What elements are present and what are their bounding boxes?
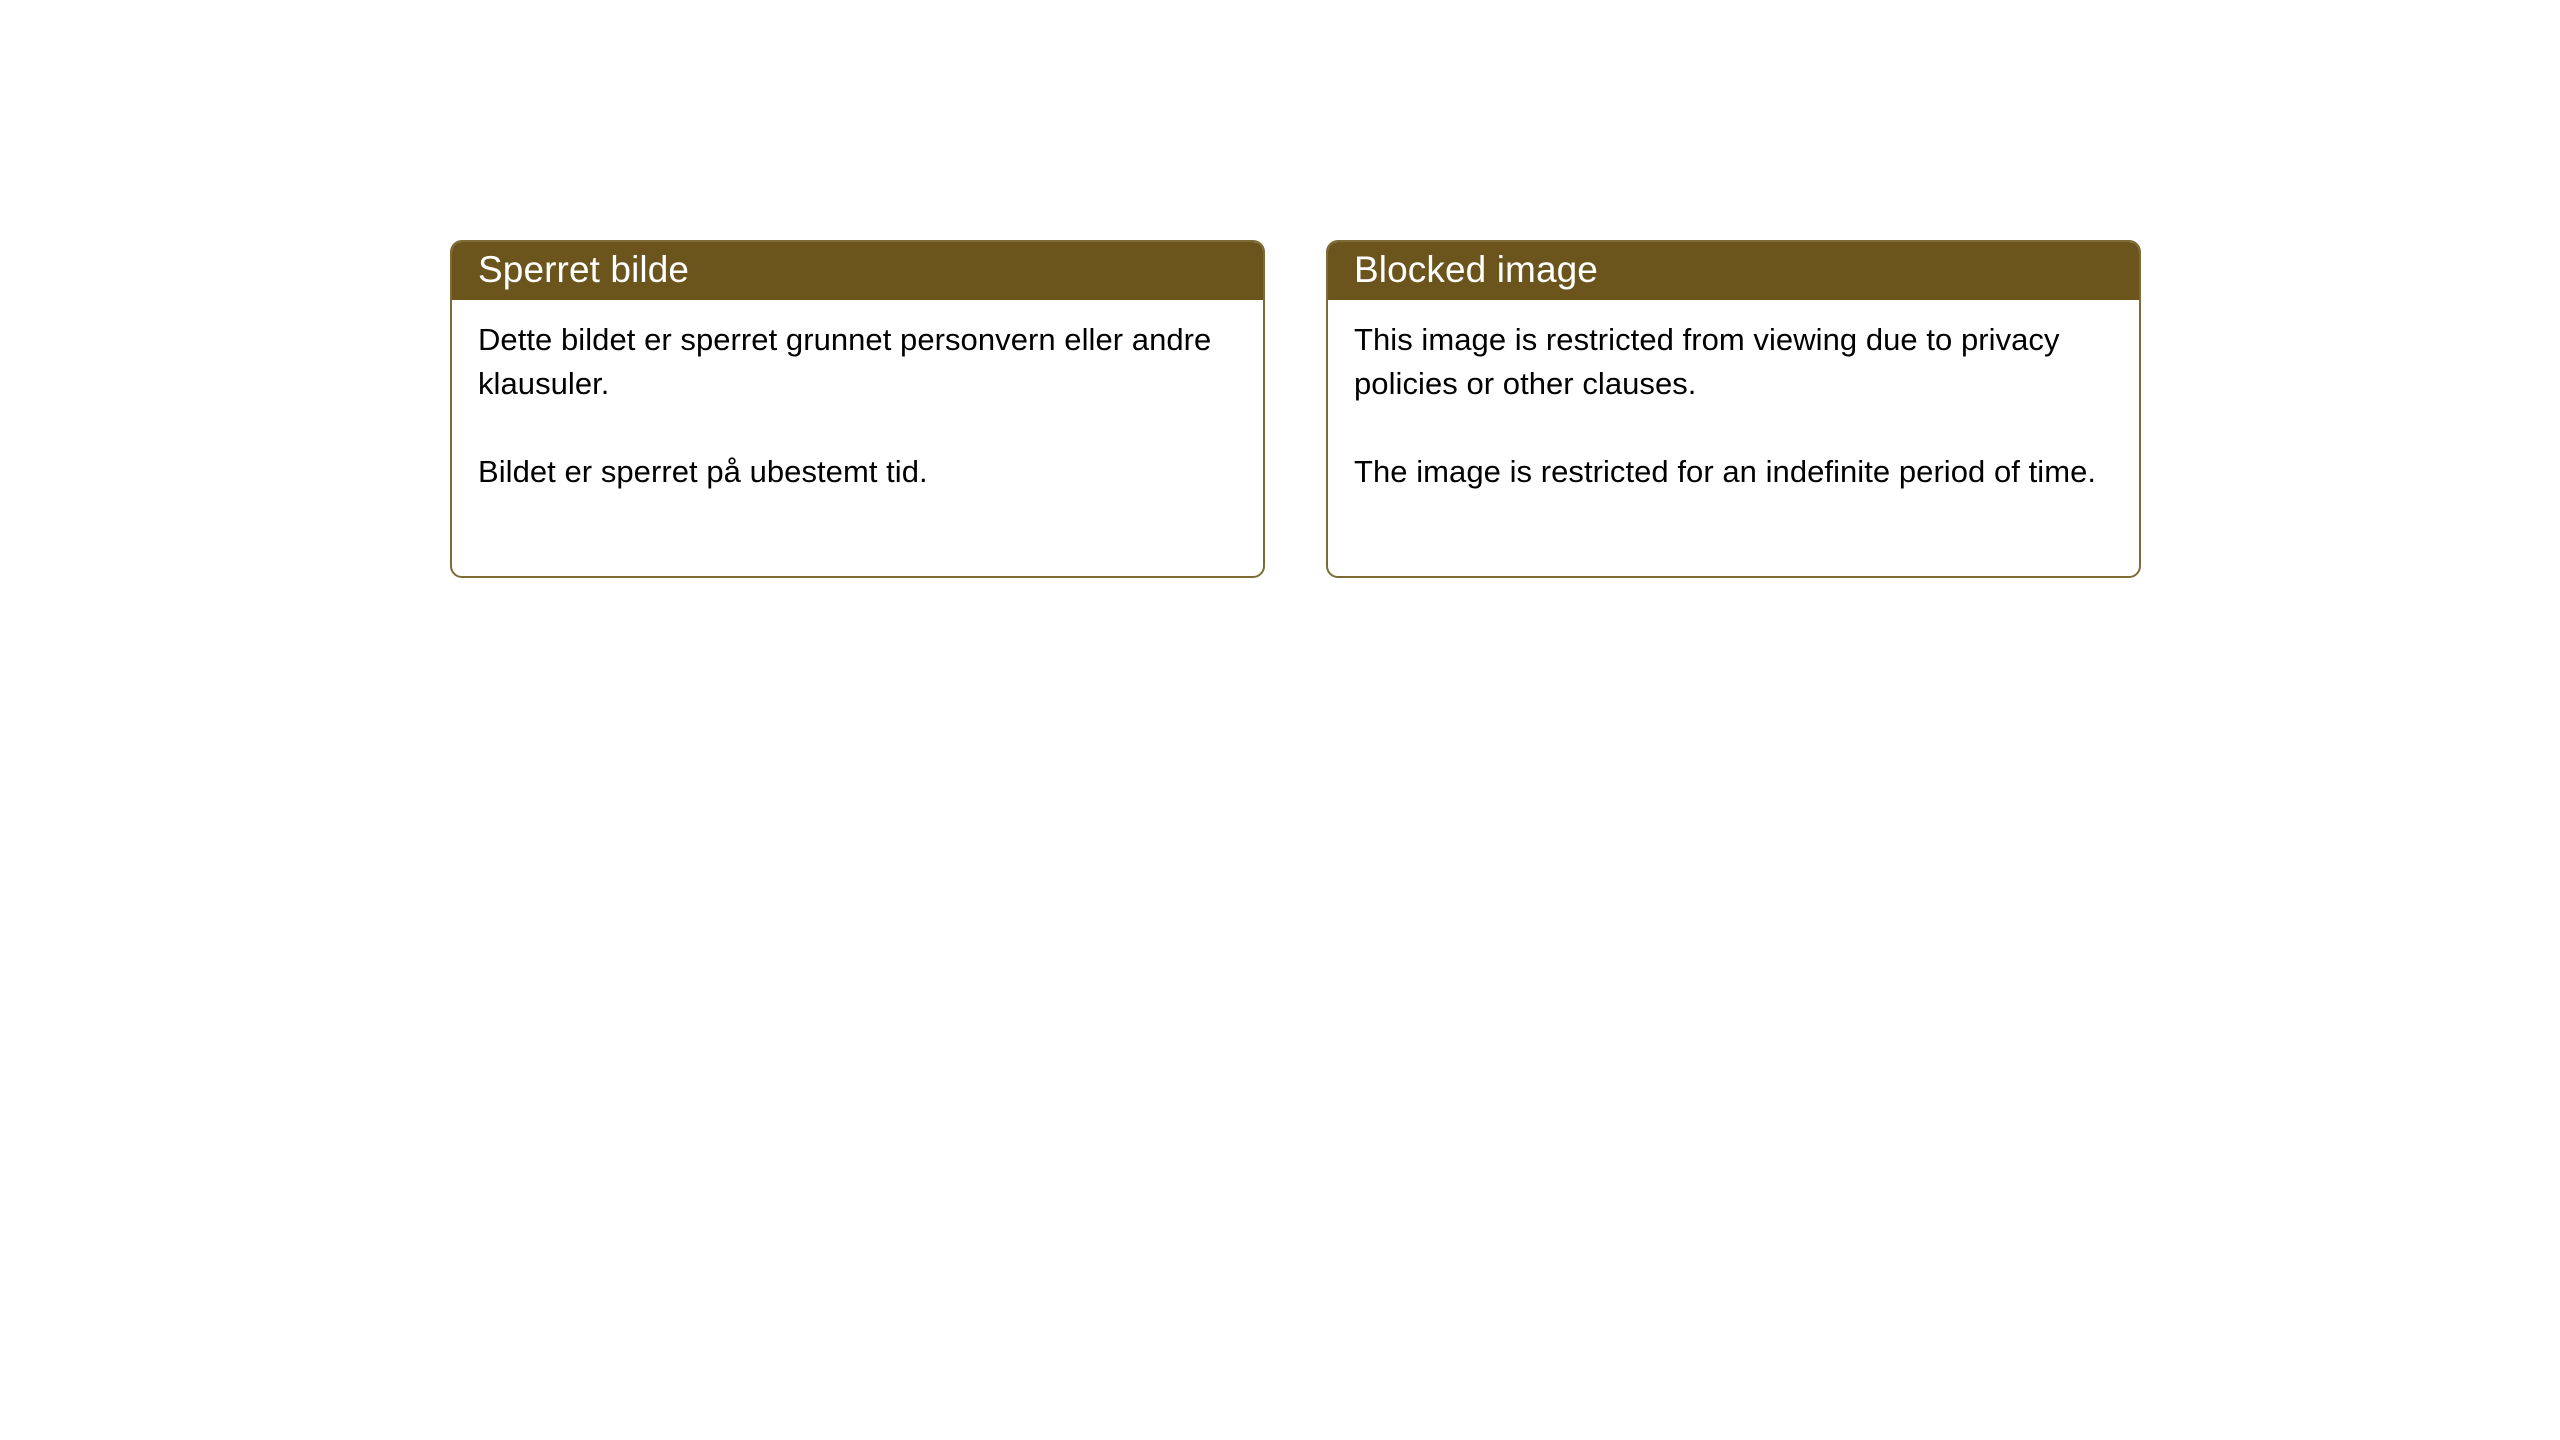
- blocked-image-card-row: Sperret bilde Dette bildet er sperret gr…: [450, 240, 2141, 578]
- card-paragraph-primary-english: This image is restricted from viewing du…: [1354, 318, 2113, 406]
- blocked-image-card-norwegian: Sperret bilde Dette bildet er sperret gr…: [450, 240, 1265, 578]
- card-header-norwegian: Sperret bilde: [450, 240, 1265, 300]
- card-body-norwegian: Dette bildet er sperret grunnet personve…: [452, 300, 1263, 576]
- card-paragraph-secondary-english: The image is restricted for an indefinit…: [1354, 450, 2113, 494]
- blocked-image-card-english: Blocked image This image is restricted f…: [1326, 240, 2141, 578]
- card-title-norwegian: Sperret bilde: [478, 248, 689, 292]
- card-header-english: Blocked image: [1326, 240, 2141, 300]
- card-paragraph-primary-norwegian: Dette bildet er sperret grunnet personve…: [478, 318, 1237, 406]
- card-body-english: This image is restricted from viewing du…: [1328, 300, 2139, 576]
- card-title-english: Blocked image: [1354, 248, 1598, 292]
- page-root: Sperret bilde Dette bildet er sperret gr…: [0, 0, 2560, 1440]
- card-paragraph-secondary-norwegian: Bildet er sperret på ubestemt tid.: [478, 450, 1237, 494]
